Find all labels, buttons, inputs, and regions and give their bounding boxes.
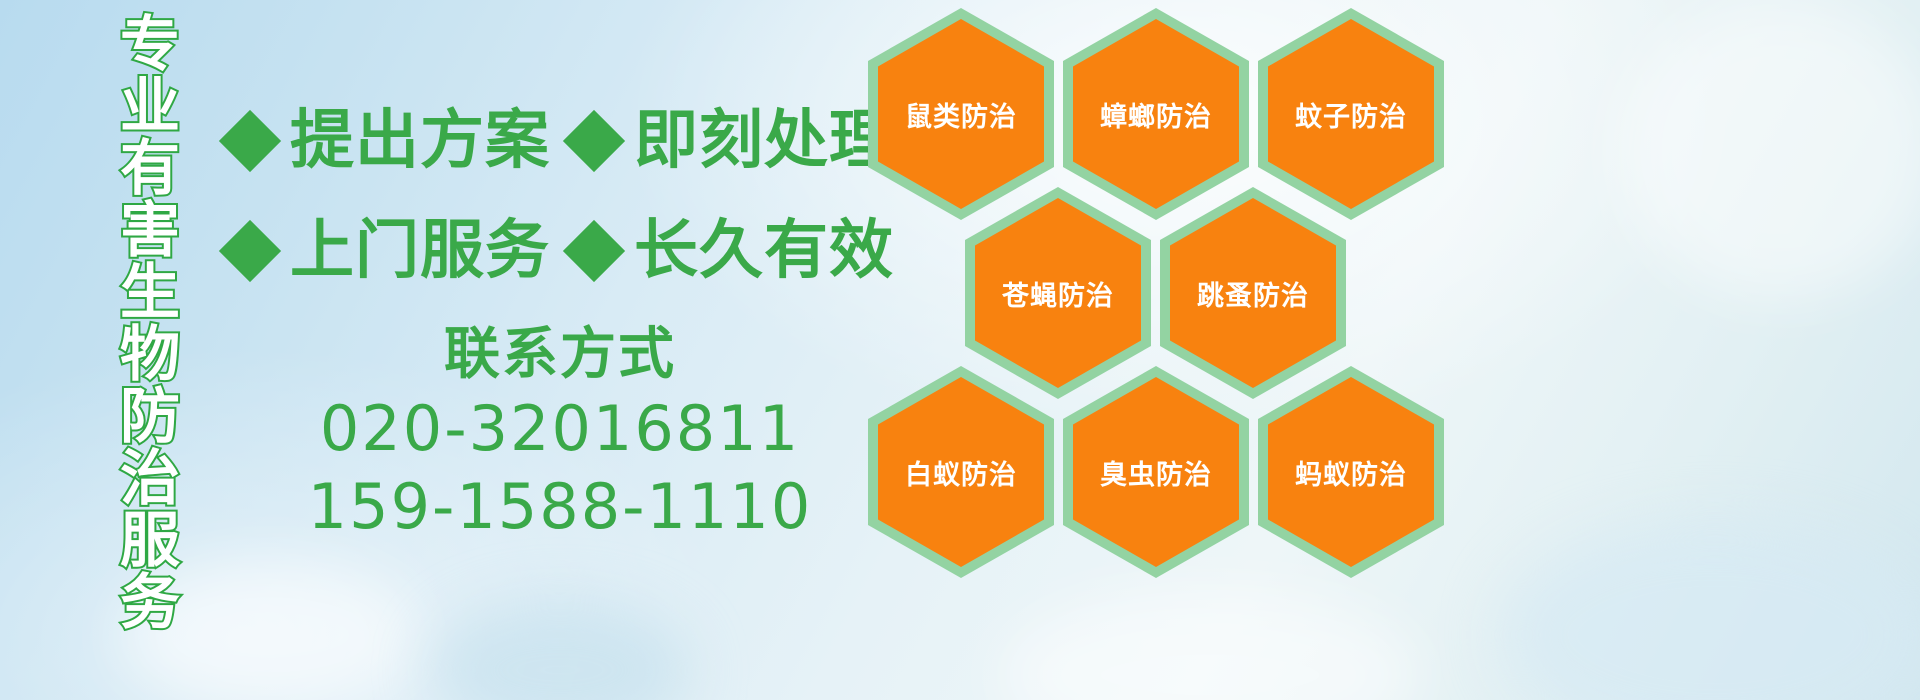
service-hex-termite[interactable]: 白蚁防治 xyxy=(868,366,1054,578)
service-hex-label: 苍蝇防治 xyxy=(1002,274,1114,313)
feature-bullets: 提出方案 即刻处理 上门服务 长久有效 xyxy=(228,86,868,306)
service-hex-fill: 蟑螂防治 xyxy=(1073,19,1239,209)
service-hex-label: 鼠类防治 xyxy=(905,95,1017,134)
service-hex-label: 白蚁防治 xyxy=(905,453,1017,492)
feature-bullet-row: 提出方案 即刻处理 xyxy=(228,86,868,196)
feature-bullet-longlasting: 长久有效 xyxy=(572,219,894,283)
service-hex-fill: 跳蚤防治 xyxy=(1170,198,1336,388)
service-hex-label: 臭虫防治 xyxy=(1100,453,1212,492)
contact-block: 联系方式 020-32016811 159-1588-1110 xyxy=(300,320,820,546)
feature-bullet-onsite: 上门服务 xyxy=(228,219,550,283)
service-hex-fill: 臭虫防治 xyxy=(1073,377,1239,567)
vertical-title-char: 专 xyxy=(120,14,180,76)
feature-bullet-label: 提出方案 xyxy=(290,109,550,173)
feature-bullet-row: 上门服务 长久有效 xyxy=(228,196,868,306)
background-blob xyxy=(1500,520,1920,700)
vertical-title-char: 有 xyxy=(120,138,180,200)
service-hex-fly[interactable]: 苍蝇防治 xyxy=(965,187,1151,399)
background-blob xyxy=(1620,0,1920,300)
service-hex-label: 跳蚤防治 xyxy=(1197,274,1309,313)
feature-bullet-label: 长久有效 xyxy=(634,219,894,283)
background-blob xyxy=(1000,590,1420,700)
service-hex-flea[interactable]: 跳蚤防治 xyxy=(1160,187,1346,399)
diamond-icon xyxy=(219,220,281,282)
vertical-title-char: 业 xyxy=(120,76,180,138)
feature-bullet-label: 上门服务 xyxy=(290,219,550,283)
service-hex-label: 蚂蚁防治 xyxy=(1295,453,1407,492)
diamond-icon xyxy=(219,110,281,172)
service-hex-bedbug[interactable]: 臭虫防治 xyxy=(1063,366,1249,578)
feature-bullet-proposal: 提出方案 xyxy=(228,109,550,173)
diamond-icon xyxy=(563,220,625,282)
service-hex-ant[interactable]: 蚂蚁防治 xyxy=(1258,366,1444,578)
feature-bullet-immediate: 即刻处理 xyxy=(572,109,894,173)
vertical-title-char: 害 xyxy=(120,200,180,262)
service-hex-fill: 苍蝇防治 xyxy=(975,198,1141,388)
vertical-title-char: 治 xyxy=(120,448,180,510)
vertical-title-char: 服 xyxy=(120,510,180,572)
service-hex-fill: 鼠类防治 xyxy=(878,19,1044,209)
service-hex-label: 蟑螂防治 xyxy=(1100,95,1212,134)
service-hex-fill: 蚊子防治 xyxy=(1268,19,1434,209)
service-hex-fill: 白蚁防治 xyxy=(878,377,1044,567)
service-hex-rodent[interactable]: 鼠类防治 xyxy=(868,8,1054,220)
service-hex-cockroach[interactable]: 蟑螂防治 xyxy=(1063,8,1249,220)
promo-banner: 专 业 有 害 生 物 防 治 服 务 提出方案 即刻处理 上门服务 xyxy=(0,0,1920,700)
vertical-title-char: 生 xyxy=(120,262,180,324)
feature-bullet-label: 即刻处理 xyxy=(634,109,894,173)
vertical-title: 专 业 有 害 生 物 防 治 服 务 xyxy=(104,14,196,574)
background-blob xyxy=(430,600,690,700)
vertical-title-char: 防 xyxy=(120,386,180,448)
service-hex-fill: 蚂蚁防治 xyxy=(1268,377,1434,567)
vertical-title-char: 务 xyxy=(120,572,180,634)
vertical-title-char: 物 xyxy=(120,324,180,386)
service-hex-mosquito[interactable]: 蚊子防治 xyxy=(1258,8,1444,220)
contact-title: 联系方式 xyxy=(300,320,820,390)
phone-mobile[interactable]: 159-1588-1110 xyxy=(300,468,820,546)
diamond-icon xyxy=(563,110,625,172)
phone-landline[interactable]: 020-32016811 xyxy=(300,390,820,468)
service-hex-label: 蚊子防治 xyxy=(1295,95,1407,134)
service-hexagon-cluster: 鼠类防治 蟑螂防治 蚊子防治 苍蝇防治 跳蚤防治 白蚁防 xyxy=(860,0,1460,560)
